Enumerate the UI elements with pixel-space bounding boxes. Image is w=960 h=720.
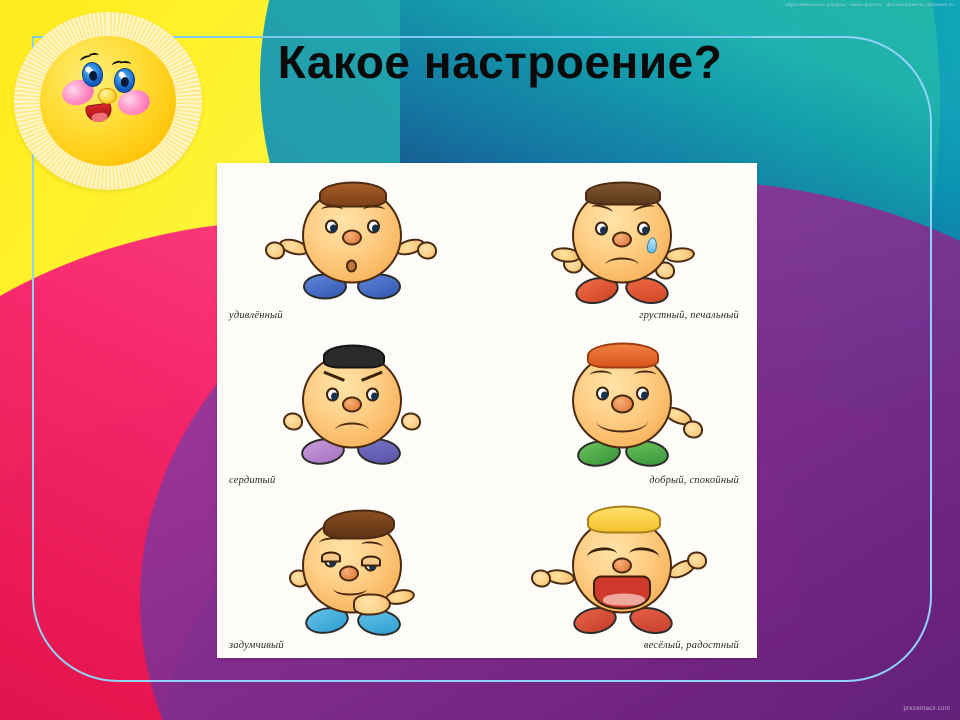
nose xyxy=(342,396,362,412)
watermark-top: образовательные ресурсы · наши проекты ·… xyxy=(785,2,954,7)
eye-right xyxy=(366,387,379,401)
hand-right xyxy=(401,412,421,430)
eyebrow-left xyxy=(590,370,612,379)
mouth-frown xyxy=(335,422,369,438)
caption-kind: добрый, спокойный xyxy=(649,475,739,486)
hair-brown-side xyxy=(323,509,395,539)
watermark-bottom: prezentacii.com xyxy=(903,706,950,712)
eye-right xyxy=(367,219,380,233)
caption-joyful: весёлый, радостный xyxy=(644,640,739,651)
hand-left xyxy=(531,569,551,587)
eye-right xyxy=(636,386,649,400)
hand-left xyxy=(283,412,303,430)
eye-left xyxy=(326,387,339,401)
nose xyxy=(612,557,632,573)
emotions-grid: удивлённый xyxy=(217,163,757,658)
eye-left xyxy=(325,219,338,233)
caption-surprised: удивлённый xyxy=(229,310,283,321)
page-title: Какое настроение? xyxy=(200,38,800,86)
eyebrow-left xyxy=(321,205,343,214)
figure-joyful xyxy=(537,511,707,646)
nose xyxy=(339,565,359,581)
eye-left xyxy=(596,386,609,400)
slide-root: Какое настроение? xyxy=(0,0,960,720)
figure-kind xyxy=(537,346,707,481)
nose xyxy=(612,231,632,247)
emotion-cell-pensive: задумчивый xyxy=(217,493,487,658)
eye-right xyxy=(637,221,650,235)
mouth-frown xyxy=(605,257,639,273)
emotion-cell-surprised: удивлённый xyxy=(217,163,487,328)
figure-pensive xyxy=(267,511,437,646)
eyelid-right xyxy=(361,555,381,566)
caption-sad: грустный, печальный xyxy=(639,310,739,321)
eyebrow-right xyxy=(634,370,656,379)
caption-angry: сердитый xyxy=(229,475,275,486)
hair-brown-wavy xyxy=(319,181,387,207)
emotion-cell-joyful: весёлый, радостный xyxy=(487,493,757,658)
emotion-cell-kind: добрый, спокойный xyxy=(487,328,757,493)
mouth-surprised xyxy=(346,259,357,272)
nose xyxy=(342,229,362,245)
hand-right xyxy=(417,241,437,259)
hand-left xyxy=(265,241,285,259)
hand-right xyxy=(687,551,707,569)
sun-pupil xyxy=(120,77,129,88)
caption-pensive: задумчивый xyxy=(229,640,284,651)
sun-nose xyxy=(98,88,117,104)
emotions-image-panel: удивлённый xyxy=(217,163,757,658)
eye-left xyxy=(595,221,608,235)
hair-black-spiky xyxy=(323,344,385,368)
figure-sad xyxy=(537,181,707,316)
emotion-cell-angry: сердитый xyxy=(217,328,487,493)
mouth-laughing xyxy=(593,575,651,609)
mouth-smile xyxy=(596,408,648,432)
figure-angry xyxy=(267,346,437,481)
hand-right xyxy=(683,420,703,438)
sun-icon xyxy=(6,6,211,196)
sun-eyelash xyxy=(120,61,131,67)
emotion-cell-sad: грустный, печальный xyxy=(487,163,757,328)
figure-surprised xyxy=(267,181,437,316)
hair-brown-flat xyxy=(585,181,661,205)
eyebrow-right xyxy=(363,205,385,214)
hair-blonde-spiky xyxy=(587,505,661,533)
hair-orange-spiky xyxy=(587,342,659,368)
eyelid-left xyxy=(321,551,341,562)
